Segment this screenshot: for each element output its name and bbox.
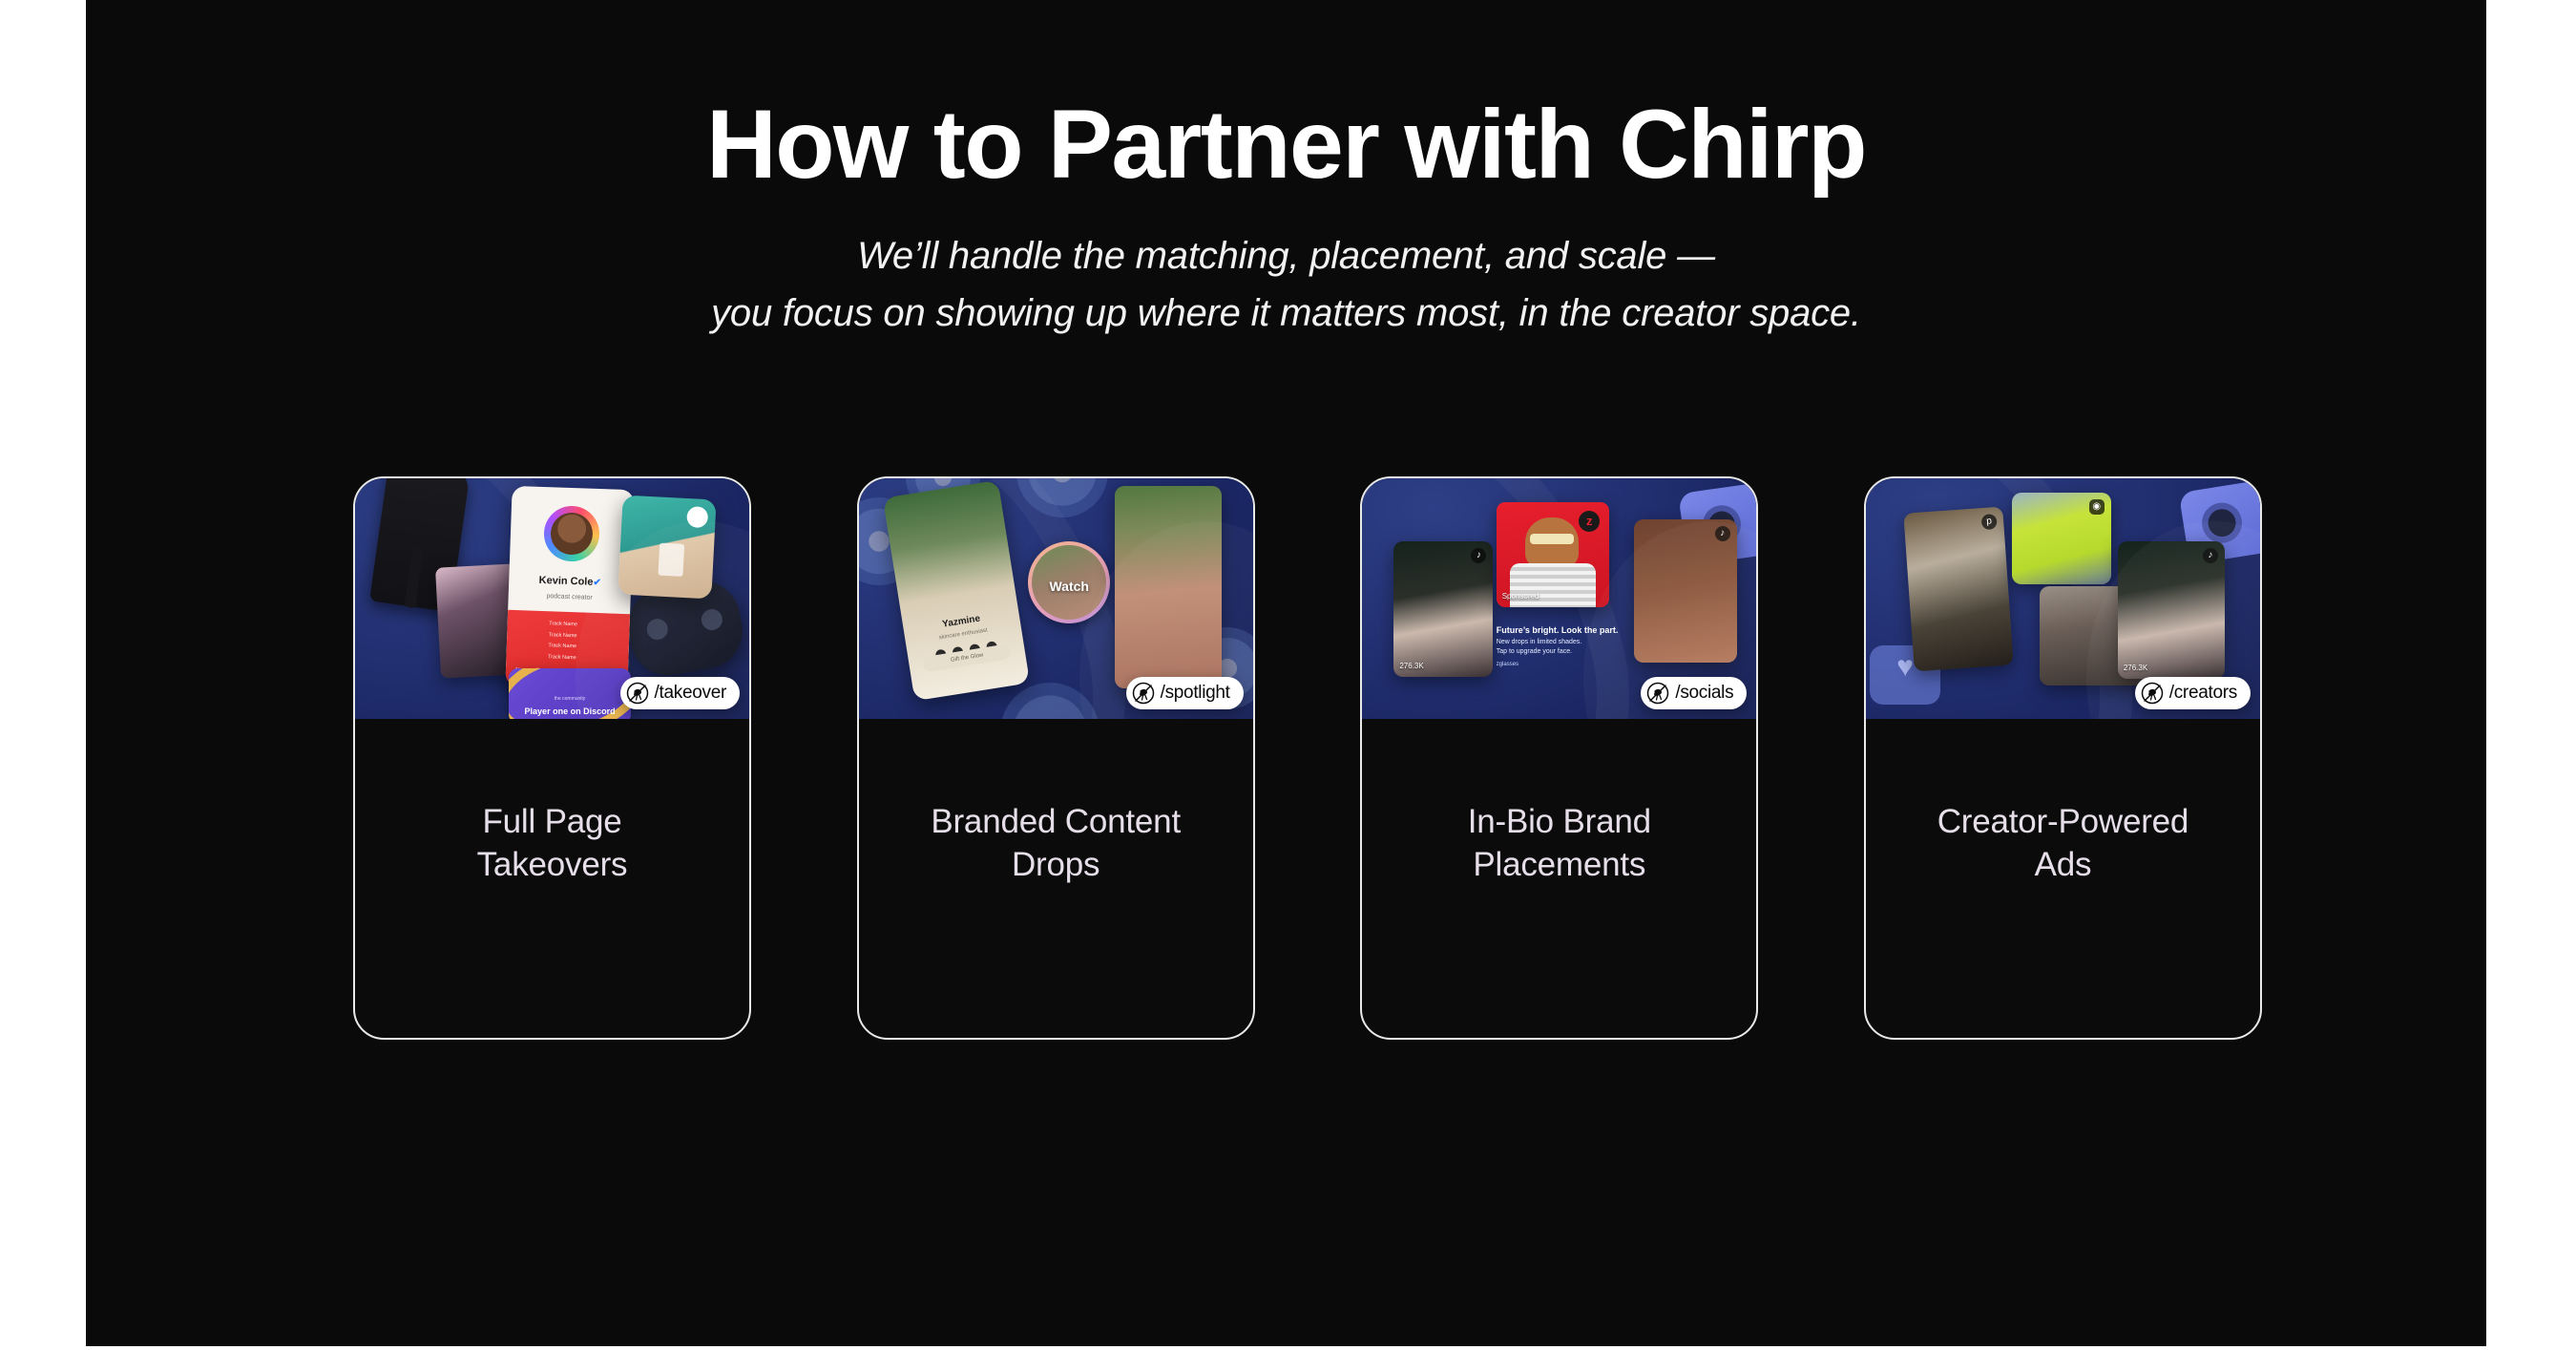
card-in-bio-brand-placements[interactable]: ♪ 276.3K z Sponsored Future’s bright. Lo… [1360, 476, 1758, 1040]
watch-bubble[interactable]: Watch [1028, 541, 1110, 623]
card-title-socials: In-Bio Brand Placements [1390, 801, 1728, 1038]
chirp-badge-takeover[interactable]: /takeover [620, 677, 740, 709]
card-title-spotlight: Branded Content Drops [887, 801, 1225, 1038]
ad-body: New drops in limited shades. Tap to upgr… [1497, 638, 1630, 657]
view-count: 276.3K [1399, 662, 1487, 671]
pinterest-icon: p [1981, 514, 1998, 530]
chirp-badge-creators[interactable]: /creators [2135, 677, 2251, 709]
card-title-line-1: In-Bio Brand [1468, 803, 1651, 840]
card-title-line-1: Creator-Powered [1937, 803, 2189, 840]
card-creator-powered-ads[interactable]: p ◉ ◉ ♪ 276.3K [1864, 476, 2262, 1040]
braces-closeup-photo: ♪ [1634, 519, 1737, 663]
podcast-profile-card: Kevin Cole✔ podcast creator Track Name T… [505, 486, 634, 690]
chirp-badge-socials[interactable]: /socials [1641, 677, 1747, 709]
creator-role: podcast creator [509, 592, 631, 602]
neon-tee-photo: ◉ [2012, 493, 2111, 584]
discord-banner: the community Player one on Discord [509, 668, 631, 719]
sunglasses-illustration [1530, 534, 1574, 544]
card-caption-takeover: Full Page Takeovers [355, 719, 749, 1038]
card-full-page-takeovers[interactable]: ♪ Kevin Cole✔ podcast creator Track Name… [353, 476, 751, 1040]
camera-illustration [1678, 482, 1757, 565]
instagram-icon: ◉ [2089, 499, 2105, 515]
screenshot-root: How to Partner with Chirp We’ll handle t… [0, 0, 2576, 1350]
page-subtitle: We’ll handle the matching, placement, an… [86, 227, 2486, 342]
card-title-line-2: Takeovers [477, 846, 628, 883]
card-title-line-1: Branded Content [931, 803, 1181, 840]
discord-label: Player one on Discord [509, 707, 631, 716]
avatar [543, 505, 600, 562]
partnership-card-row: ♪ Kevin Cole✔ podcast creator Track Name… [353, 476, 2262, 1049]
ad-body-line-1: New drops in limited shades. [1497, 639, 1582, 645]
track-row: Track Name [548, 652, 619, 665]
card-artwork-spotlight: Yazmine skincare enthusiast Gift the Glo… [859, 478, 1253, 719]
chirp-badge-label: /creators [2169, 683, 2237, 704]
barber-photo: p [1904, 506, 2014, 671]
instagram-icon: ◉ [2123, 593, 2138, 608]
card-artwork-socials: ♪ 276.3K z Sponsored Future’s bright. Lo… [1362, 478, 1756, 719]
chirp-badge-label: /socials [1675, 683, 1733, 704]
ad-brand: zglasses [1497, 662, 1630, 667]
club-photo: ♪ 276.3K [2118, 541, 2225, 679]
card-title-line-2: Placements [1473, 846, 1645, 883]
card-caption-creators: Creator-Powered Ads [1866, 719, 2260, 1038]
gua-sha-photo [1115, 486, 1222, 688]
zglasses-logo-icon: z [1579, 511, 1600, 532]
tiktok-icon: ♪ [1471, 548, 1486, 563]
club-photo: ♪ 276.3K [1393, 541, 1493, 677]
page-title: How to Partner with Chirp [86, 92, 2486, 197]
card-artwork-takeover: ♪ Kevin Cole✔ podcast creator Track Name… [355, 478, 749, 719]
card-branded-content-drops[interactable]: Yazmine skincare enthusiast Gift the Glo… [857, 476, 1255, 1040]
subtitle-line-2: you focus on showing up where it matters… [86, 285, 2486, 342]
track-rows: Track Name Track Name Track Name Track N… [548, 619, 620, 665]
chirp-badge-label: /spotlight [1161, 683, 1230, 704]
verified-badge-icon: ✔ [593, 578, 601, 588]
subtitle-line-1: We’ll handle the matching, placement, an… [86, 227, 2486, 285]
card-artwork-creators: p ◉ ◉ ♪ 276.3K [1866, 478, 2260, 719]
citrus-slice [1000, 683, 1100, 719]
game-controller-illustration [622, 575, 748, 681]
card-title-takeover: Full Page Takeovers [383, 801, 722, 1038]
card-caption-spotlight: Branded Content Drops [859, 719, 1253, 1038]
watch-label: Watch [1028, 579, 1110, 594]
presentation-slide: How to Partner with Chirp We’ll handle t… [86, 0, 2486, 1346]
discord-kicker: the community [509, 696, 631, 702]
card-title-creators: Creator-Powered Ads [1894, 801, 2232, 1038]
red-glasses-ad: z Sponsored [1497, 502, 1609, 607]
ad-headline: Future’s bright. Look the part. [1497, 625, 1630, 635]
chirp-bird-icon [626, 682, 649, 705]
camera-illustration [2179, 479, 2260, 564]
brand-logo-icon [686, 507, 708, 529]
chirp-bird-icon [1646, 682, 1669, 705]
ad-body-line-2: Tap to upgrade your face. [1497, 648, 1572, 655]
concert-crowd-photo: ◉ [2040, 586, 2145, 686]
chirp-bird-icon [2141, 682, 2164, 705]
slide-header: How to Partner with Chirp We’ll handle t… [86, 92, 2486, 342]
tiktok-icon: ♪ [1715, 526, 1730, 541]
citrus-slice [1016, 478, 1108, 517]
sponsored-label: Sponsored [1502, 592, 1603, 601]
card-title-line-1: Full Page [482, 803, 621, 840]
drink-photo [618, 496, 716, 600]
ad-copy-block: Future’s bright. Look the part. New drop… [1497, 625, 1630, 667]
card-caption-socials: In-Bio Brand Placements [1362, 719, 1756, 1038]
skincare-phone: Yazmine skincare enthusiast Gift the Glo… [883, 480, 1030, 701]
tiktok-icon: ♪ [2203, 548, 2218, 563]
chirp-badge-label: /takeover [655, 683, 726, 704]
creator-name: Kevin Cole✔ [509, 574, 631, 589]
view-count: 276.3K [2124, 664, 2219, 673]
glass-illustration [658, 543, 684, 577]
chirp-bird-icon [1132, 682, 1155, 705]
card-title-line-2: Drops [1012, 846, 1100, 883]
chirp-badge-spotlight[interactable]: /spotlight [1126, 677, 1244, 709]
card-title-line-2: Ads [2035, 846, 2092, 883]
